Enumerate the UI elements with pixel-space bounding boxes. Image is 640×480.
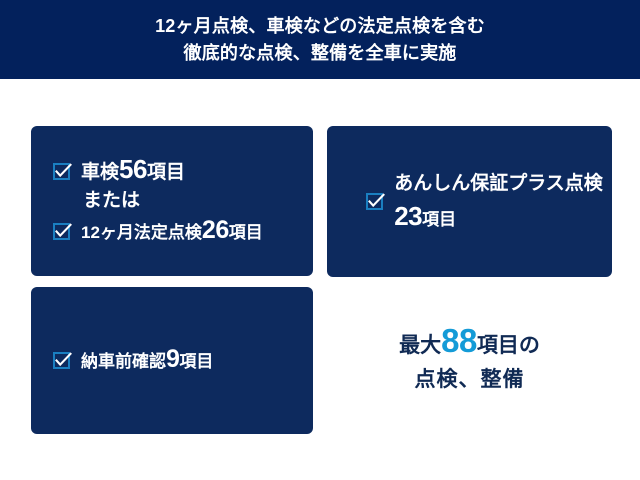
checkbox-checked-icon [53, 163, 70, 180]
predelivery-text: 納車前確認9項目 [81, 346, 213, 375]
promo-panel: 12ヶ月点検、車検などの法定点検を含む 徹底的な点検、整備を全車に実施 車検56… [0, 0, 640, 480]
summary-line-2: 点検、整備 [415, 363, 525, 397]
header-banner: 12ヶ月点検、車検などの法定点検を含む 徹底的な点検、整備を全車に実施 [0, 0, 640, 79]
card-predelivery-content: 納車前確認9項目 [31, 287, 335, 434]
inspection-row-legal: 12ヶ月法定点検26項目 [53, 217, 335, 246]
header-line-2: 徹底的な点検、整備を全車に実施 [184, 40, 457, 67]
inspection-legal-text: 12ヶ月法定点検26項目 [81, 217, 263, 246]
inspection-row-shaken: 車検56項目 [53, 156, 335, 186]
inspection-shaken-text: 車検56項目 [81, 156, 185, 186]
header-line-1: 12ヶ月点検、車検などの法定点検を含む [155, 13, 485, 40]
card-inspection: 車検56項目 または 12ヶ月法定点検26項目 [31, 126, 313, 276]
inspection-row-or: または [53, 188, 335, 214]
warranty-title-text: あんしん保証プラス点検 [394, 167, 603, 200]
card-warranty: あんしん保証プラス点検 23項目 [327, 126, 612, 277]
summary-line-1: 最大88項目の [399, 324, 540, 363]
summary-total-number: 88 [441, 322, 477, 359]
card-predelivery: 納車前確認9項目 [31, 287, 313, 434]
checkbox-checked-icon [366, 193, 383, 210]
predelivery-row: 納車前確認9項目 [53, 346, 335, 375]
inspection-or-text: または [83, 188, 140, 214]
checkbox-checked-icon [53, 352, 70, 369]
warranty-count-text: 23項目 [394, 200, 603, 236]
card-inspection-content: 車検56項目 または 12ヶ月法定点検26項目 [31, 126, 335, 276]
summary-total: 最大88項目の 点検、整備 [327, 287, 612, 434]
card-warranty-content: あんしん保証プラス点検 23項目 [327, 126, 627, 277]
warranty-text-stack: あんしん保証プラス点検 23項目 [394, 167, 603, 236]
checkbox-checked-icon [53, 223, 70, 240]
